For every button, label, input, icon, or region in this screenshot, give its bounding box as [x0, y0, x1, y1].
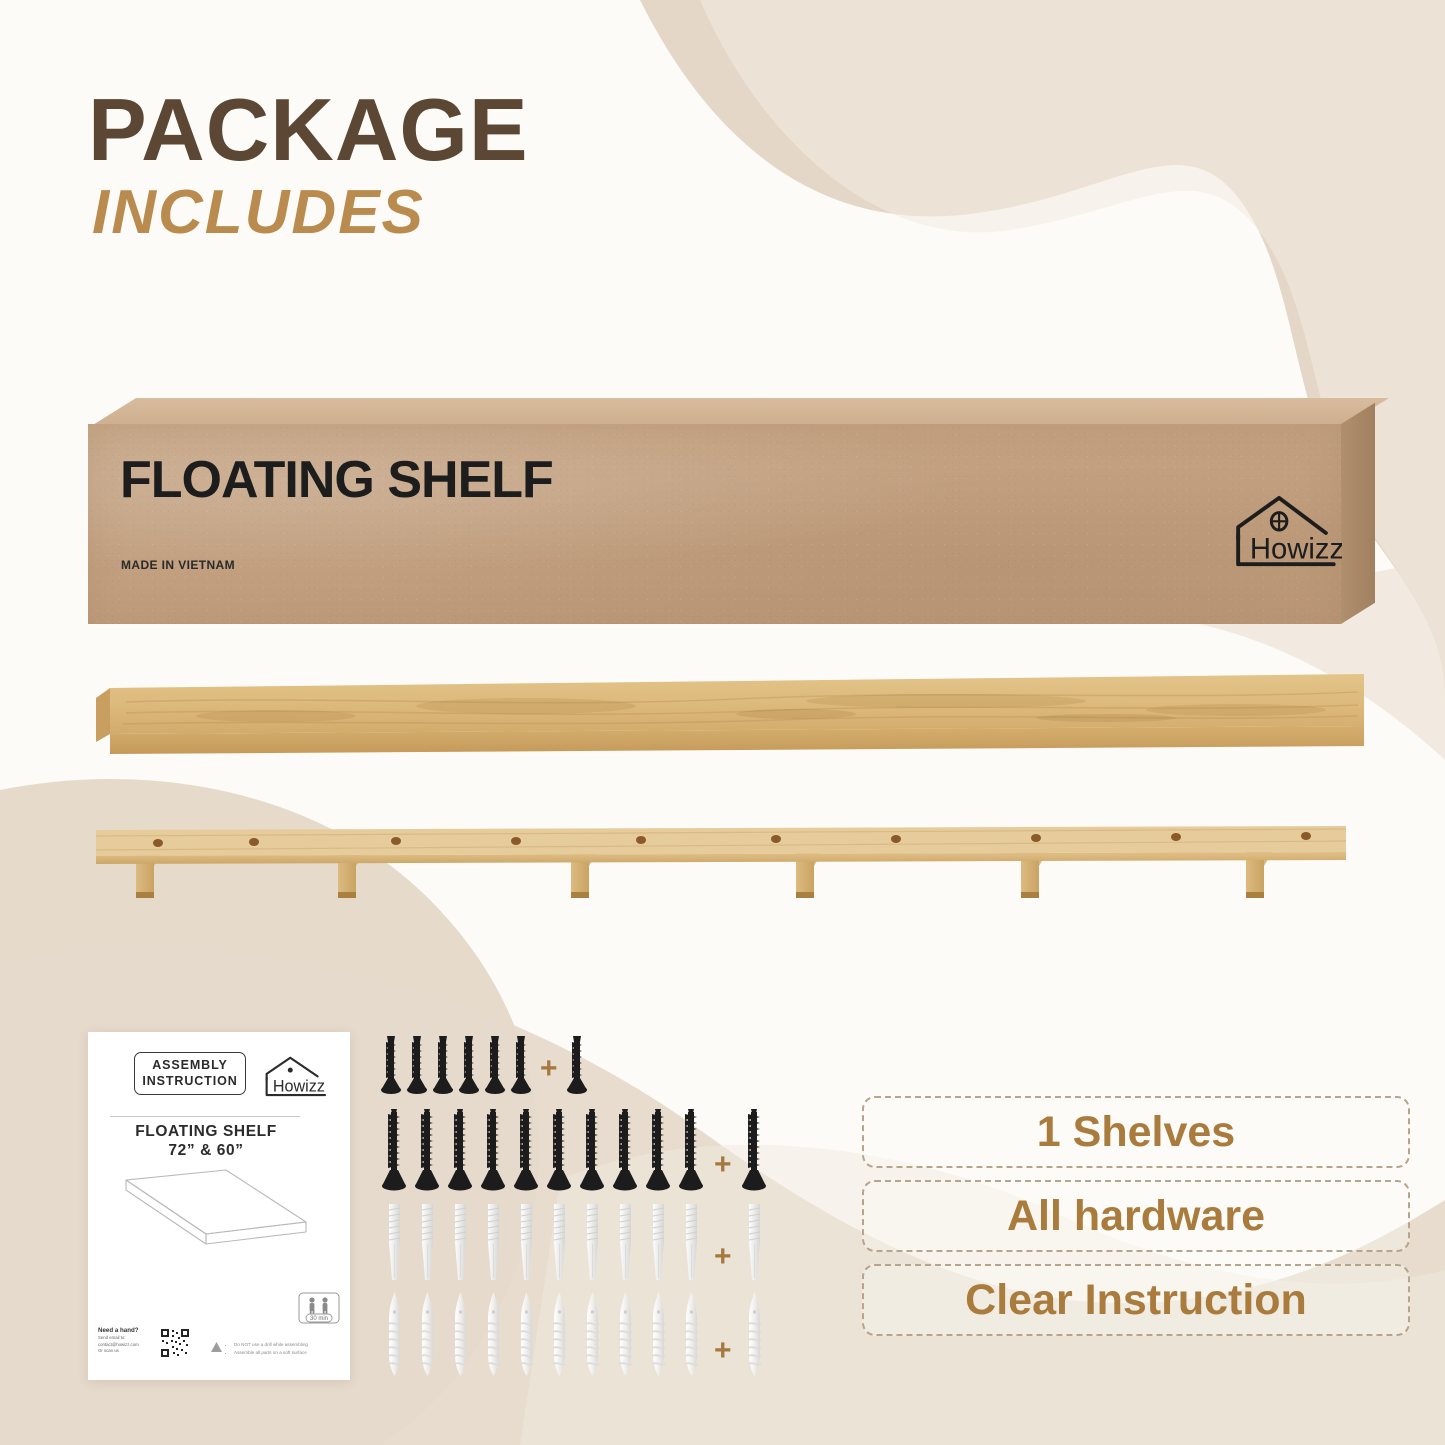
hardware-row-long-screw: + [378, 1108, 830, 1194]
feature-box-hardware: All hardware [862, 1180, 1410, 1252]
drywall-anchor-icon [609, 1290, 642, 1380]
wall-anchor-icon [675, 1202, 708, 1286]
wall-anchor-icon [378, 1202, 411, 1286]
screw-long-icon [543, 1108, 576, 1194]
screw-long-icon [609, 1108, 642, 1194]
screw-short-icon [482, 1032, 508, 1098]
manual-product-sizes: 72” & 60” [108, 1142, 304, 1160]
carton-side-face [1341, 403, 1375, 624]
page-title-primary: PACKAGE [88, 86, 529, 174]
wall-anchor-icon [609, 1202, 642, 1286]
manual-divider [110, 1116, 300, 1117]
page-title-group: PACKAGE INCLUDES [88, 86, 529, 244]
manual-badge-line2: INSTRUCTION [137, 1074, 243, 1090]
feature-label: 1 Shelves [1037, 1108, 1235, 1157]
infographic-canvas: PACKAGE INCLUDES FLOATING SHELF MADE IN … [0, 0, 1445, 1445]
assembly-time-badge: 30 min [298, 1292, 340, 1324]
screw-short-icon [430, 1032, 456, 1098]
product-carton: FLOATING SHELF MADE IN VIETNAM Howizz [88, 398, 1378, 626]
drywall-anchor-icon [510, 1290, 543, 1380]
carton-origin-label: MADE IN VIETNAM [121, 558, 235, 572]
assembly-manual: ASSEMBLY INSTRUCTION Howizz FLOATING SHE… [88, 1032, 350, 1380]
screw-short-icon [456, 1032, 482, 1098]
carton-title: FLOATING SHELF [120, 450, 553, 510]
wall-anchor-icon [510, 1202, 543, 1286]
drywall-anchor-spare-icon [738, 1290, 771, 1380]
page-title-secondary: INCLUDES [92, 182, 529, 244]
drywall-anchor-icon [444, 1290, 477, 1380]
screw-short-icon [404, 1032, 430, 1098]
screw-long-icon [444, 1108, 477, 1194]
feature-box-instruction: Clear Instruction [862, 1264, 1410, 1336]
drywall-anchor-icon [411, 1290, 444, 1380]
screw-long-icon [642, 1108, 675, 1194]
feature-label: Clear Instruction [965, 1276, 1307, 1325]
drywall-anchor-icon [675, 1290, 708, 1380]
screw-short-spare-icon [564, 1032, 590, 1098]
drywall-anchor-icon [477, 1290, 510, 1380]
qr-code-icon [160, 1328, 190, 1358]
assembly-time-label: 30 min [310, 1316, 328, 1322]
hardware-row-short-screw: + [378, 1032, 830, 1098]
manual-product-name: FLOATING SHELF [108, 1122, 304, 1142]
feature-box-shelves: 1 Shelves [862, 1096, 1410, 1168]
screw-short-icon [508, 1032, 534, 1098]
screw-long-spare-icon [738, 1108, 771, 1194]
svg-text:Howizz: Howizz [273, 1077, 325, 1095]
drywall-anchor-icon [576, 1290, 609, 1380]
manual-warning-item: Do NOT use a drill while assembling [234, 1341, 308, 1348]
wall-anchor-icon [477, 1202, 510, 1286]
manual-warning-item: Assemble all parts on a soft surface [234, 1349, 308, 1356]
drywall-anchor-icon [378, 1290, 411, 1380]
wall-anchor-icon [642, 1202, 675, 1286]
svg-text:Howizz: Howizz [1250, 533, 1342, 565]
wall-anchor-icon [411, 1202, 444, 1286]
feature-list: 1 Shelves All hardware Clear Instruction [862, 1096, 1410, 1348]
shelf-plank [96, 668, 1364, 754]
wall-anchor-icon [576, 1202, 609, 1286]
drywall-anchor-icon [543, 1290, 576, 1380]
manual-badge: ASSEMBLY INSTRUCTION [134, 1052, 246, 1095]
howizz-logo-icon: Howizz [1224, 494, 1342, 572]
screw-short-icon [378, 1032, 404, 1098]
hardware-row-wall-anchor: + [378, 1202, 830, 1286]
manual-shelf-drawing [106, 1160, 326, 1280]
hardware-grid: + + [378, 1032, 830, 1380]
drywall-anchor-icon [642, 1290, 675, 1380]
manual-warning-list: Do NOT use a drill while assembling Asse… [227, 1341, 308, 1356]
screw-long-icon [510, 1108, 543, 1194]
wall-anchor-spare-icon [738, 1202, 771, 1286]
plus-sign: + [714, 1242, 732, 1272]
screw-long-icon [378, 1108, 411, 1194]
warning-triangle-icon [210, 1341, 223, 1353]
wall-anchor-icon [444, 1202, 477, 1286]
screw-long-icon [675, 1108, 708, 1194]
feature-label: All hardware [1007, 1192, 1265, 1241]
wall-anchor-icon [543, 1202, 576, 1286]
screw-long-icon [576, 1108, 609, 1194]
bracket-rail [96, 826, 1346, 904]
howizz-logo-icon-manual: Howizz [256, 1054, 332, 1100]
screw-long-icon [477, 1108, 510, 1194]
manual-warning-block: Do NOT use a drill while assembling Asse… [210, 1341, 342, 1356]
plus-sign: + [714, 1336, 732, 1366]
plus-sign: + [714, 1150, 732, 1180]
hardware-row-drywall-anchor: + [378, 1290, 830, 1380]
manual-badge-line1: ASSEMBLY [137, 1058, 243, 1074]
screw-long-icon [411, 1108, 444, 1194]
plus-sign: + [540, 1054, 558, 1084]
